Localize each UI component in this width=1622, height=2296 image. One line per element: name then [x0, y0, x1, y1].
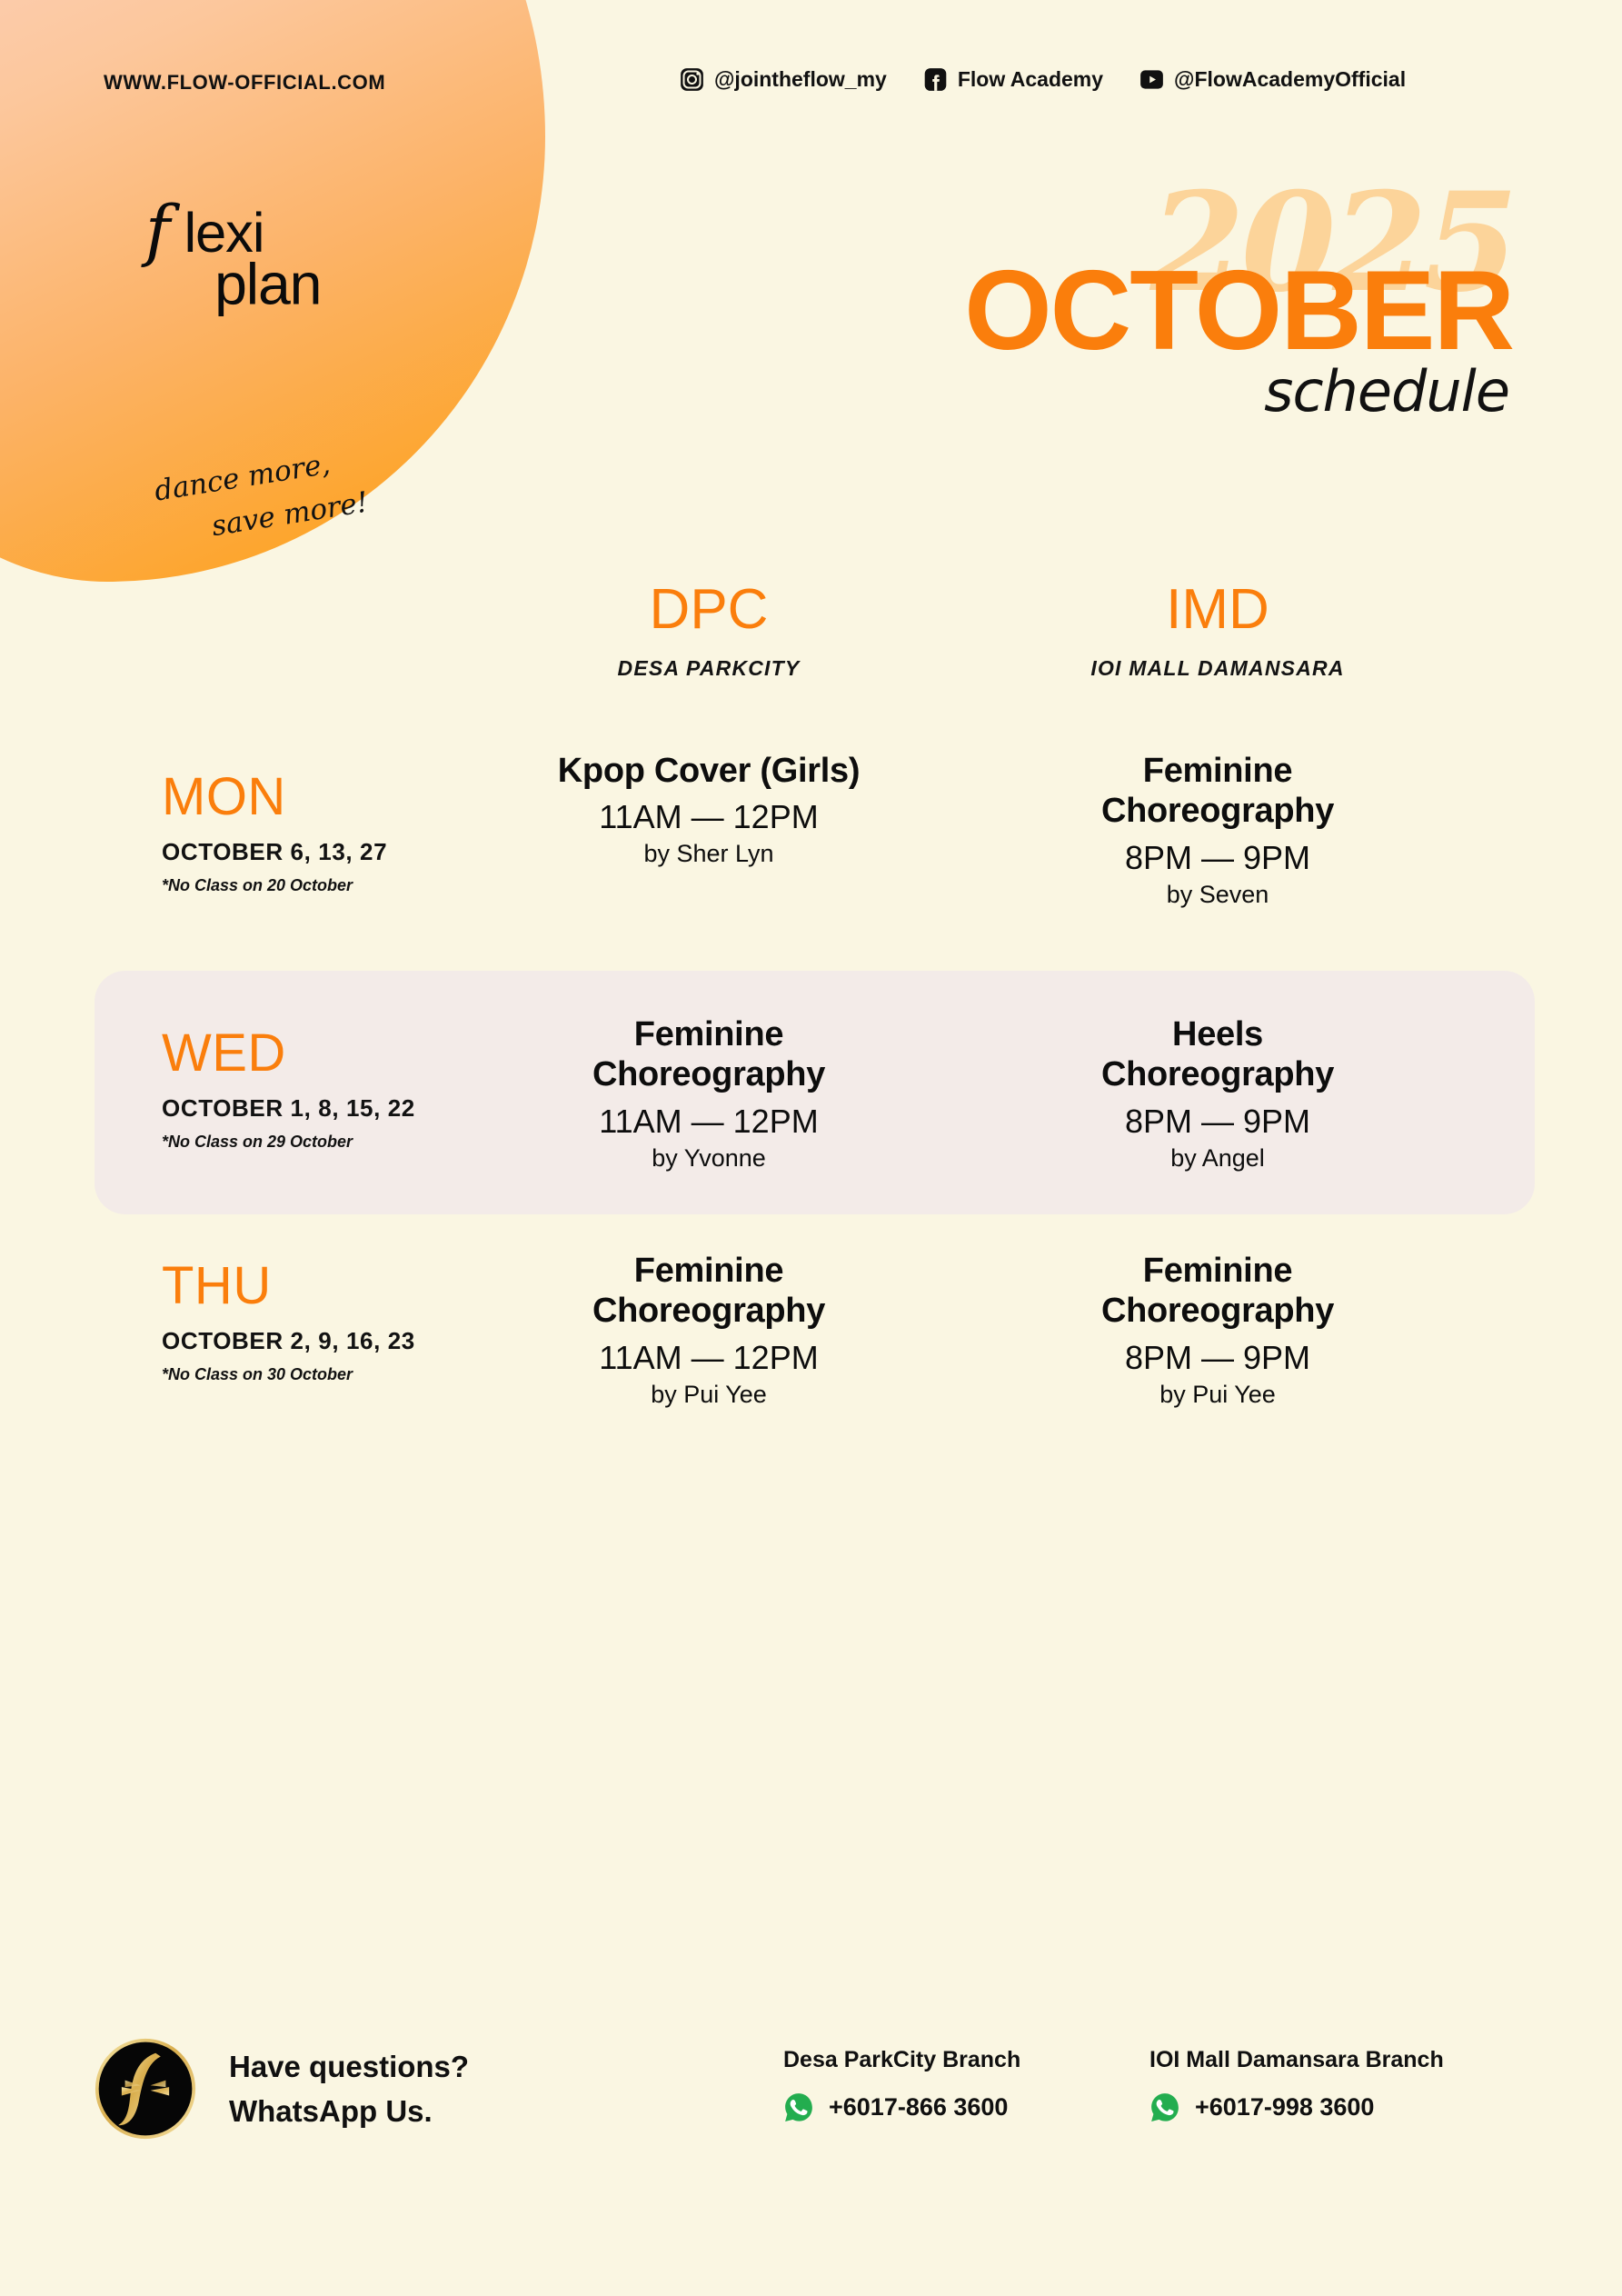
class-title: HeelsChoreography — [963, 1014, 1472, 1095]
schedule-row-wed: WED OCTOBER 1, 8, 15, 22 *No Class on 29… — [0, 971, 1622, 1214]
day-cell-thu: THU OCTOBER 2, 9, 16, 23 *No Class on 30… — [0, 1238, 454, 1384]
class-time: 11AM — 12PM — [454, 1339, 963, 1377]
class-cell-wed-imd: HeelsChoreography 8PM — 9PM by Angel — [963, 994, 1472, 1173]
schedule-grid: DPC DESA PARKCITY IMD IOI MALL DAMANSARA… — [0, 582, 1622, 1458]
flow-academy-logo-icon — [95, 2038, 196, 2140]
class-cell-thu-dpc: FeminineChoreography 11AM — 12PM by Pui … — [454, 1238, 963, 1409]
day-abbr-mon: MON — [162, 771, 454, 824]
footer-ask-line-2: WhatsApp Us. — [229, 2090, 469, 2134]
location-name-imd: IOI MALL DAMANSARA — [963, 656, 1472, 681]
location-code-imd: IMD — [963, 582, 1472, 638]
day-note-mon: *No Class on 20 October — [162, 876, 454, 895]
flexi-plan-schedule-poster: WWW.FLOW-OFFICIAL.COM @jointheflow_my Fl… — [0, 0, 1622, 2296]
schedule-row-thu: THU OCTOBER 2, 9, 16, 23 *No Class on 30… — [0, 1214, 1622, 1458]
day-note-thu: *No Class on 30 October — [162, 1365, 454, 1384]
class-instructor: by Seven — [963, 881, 1472, 909]
footer-question-text: Have questions? WhatsApp Us. — [229, 2045, 469, 2134]
class-time: 8PM — 9PM — [963, 1103, 1472, 1141]
class-instructor: by Pui Yee — [454, 1381, 963, 1409]
svg-text:plan: plan — [214, 251, 321, 316]
flexi-plan-wordmark: f lexi plan — [47, 198, 465, 325]
class-title: FeminineChoreography — [454, 1014, 963, 1095]
day-abbr-thu: THU — [162, 1260, 454, 1313]
location-header-spacer — [0, 582, 454, 727]
class-time: 8PM — 9PM — [963, 1339, 1472, 1377]
branch-phone: +6017-866 3600 — [829, 2093, 1008, 2121]
schedule-row-mon: MON OCTOBER 6, 13, 27 *No Class on 20 Oc… — [0, 727, 1622, 971]
class-instructor: by Yvonne — [454, 1144, 963, 1173]
class-title: FeminineChoreography — [963, 751, 1472, 832]
class-instructor: by Pui Yee — [963, 1381, 1472, 1409]
class-cell-wed-dpc: FeminineChoreography 11AM — 12PM by Yvon… — [454, 994, 963, 1173]
day-dates-mon: OCTOBER 6, 13, 27 — [162, 838, 454, 866]
class-cell-thu-imd: FeminineChoreography 8PM — 9PM by Pui Ye… — [963, 1238, 1472, 1409]
branch-title: IOI Mall Damansara Branch — [1149, 2047, 1444, 2073]
class-time: 8PM — 9PM — [963, 839, 1472, 877]
social-instagram[interactable]: @jointheflow_my — [680, 67, 887, 92]
class-title: FeminineChoreography — [454, 1251, 963, 1332]
flexi-plan-logo: f lexi plan dance more, save more! — [47, 198, 483, 425]
whatsapp-icon — [783, 2091, 814, 2122]
instagram-icon — [680, 67, 704, 92]
website-url: WWW.FLOW-OFFICIAL.COM — [104, 71, 385, 95]
facebook-handle: Flow Academy — [958, 67, 1103, 92]
youtube-handle: @FlowAcademyOfficial — [1174, 67, 1406, 92]
location-header-imd: IMD IOI MALL DAMANSARA — [963, 582, 1472, 727]
social-links: @jointheflow_my Flow Academy @FlowAcadem… — [680, 67, 1406, 92]
page-title: 2025 OCTOBER schedule — [933, 198, 1515, 462]
social-facebook[interactable]: Flow Academy — [923, 67, 1103, 92]
branch-phone: +6017-998 3600 — [1195, 2093, 1374, 2121]
class-title: FeminineChoreography — [963, 1251, 1472, 1332]
class-cell-mon-dpc: Kpop Cover (Girls) 11AM — 12PM by Sher L… — [454, 751, 963, 868]
location-code-dpc: DPC — [454, 582, 963, 638]
location-header-row: DPC DESA PARKCITY IMD IOI MALL DAMANSARA — [0, 582, 1622, 727]
day-dates-wed: OCTOBER 1, 8, 15, 22 — [162, 1094, 454, 1123]
logo-tagline: dance more, save more! — [152, 422, 471, 556]
facebook-icon — [923, 67, 948, 92]
day-abbr-wed: WED — [162, 1027, 454, 1080]
class-time: 11AM — 12PM — [454, 798, 963, 836]
social-youtube[interactable]: @FlowAcademyOfficial — [1139, 67, 1406, 92]
location-header-dpc: DPC DESA PARKCITY — [454, 582, 963, 727]
class-cell-mon-imd: FeminineChoreography 8PM — 9PM by Seven — [963, 751, 1472, 909]
branch-phone-row[interactable]: +6017-998 3600 — [1149, 2091, 1444, 2122]
youtube-icon — [1139, 67, 1164, 92]
day-note-wed: *No Class on 29 October — [162, 1133, 454, 1152]
top-bar: WWW.FLOW-OFFICIAL.COM @jointheflow_my Fl… — [0, 71, 1622, 104]
branch-title: Desa ParkCity Branch — [783, 2047, 1020, 2073]
branch-desa-parkcity: Desa ParkCity Branch +6017-866 3600 — [783, 2047, 1020, 2122]
instagram-handle: @jointheflow_my — [714, 67, 887, 92]
branch-ioi-mall-damansara: IOI Mall Damansara Branch +6017-998 3600 — [1149, 2047, 1444, 2122]
day-cell-wed: WED OCTOBER 1, 8, 15, 22 *No Class on 29… — [0, 994, 454, 1152]
schedule-subtitle: schedule — [1264, 364, 1509, 420]
footer: Have questions? WhatsApp Us. Desa ParkCi… — [0, 2027, 1622, 2209]
svg-text:f: f — [141, 198, 181, 269]
day-cell-mon: MON OCTOBER 6, 13, 27 *No Class on 20 Oc… — [0, 751, 454, 895]
day-dates-thu: OCTOBER 2, 9, 16, 23 — [162, 1327, 454, 1355]
footer-ask-line-1: Have questions? — [229, 2045, 469, 2090]
class-time: 11AM — 12PM — [454, 1103, 963, 1141]
whatsapp-icon — [1149, 2091, 1180, 2122]
class-title: Kpop Cover (Girls) — [454, 751, 963, 791]
location-name-dpc: DESA PARKCITY — [454, 656, 963, 681]
class-instructor: by Sher Lyn — [454, 840, 963, 868]
class-instructor: by Angel — [963, 1144, 1472, 1173]
month-label: OCTOBER — [964, 255, 1513, 367]
branch-phone-row[interactable]: +6017-866 3600 — [783, 2091, 1020, 2122]
